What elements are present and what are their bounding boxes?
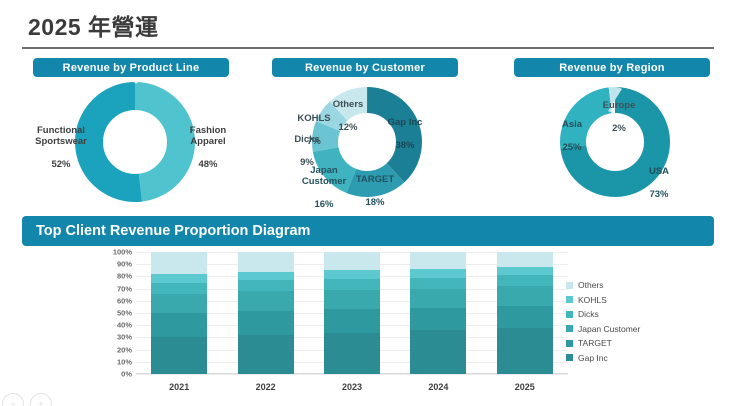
- bar-segment-japan-customer[interactable]: [410, 289, 466, 309]
- bar-segment-japan-customer[interactable]: [151, 294, 207, 314]
- bar-segment-japan-customer[interactable]: [497, 286, 553, 306]
- y-axis-tick-label: 40%: [96, 321, 132, 330]
- label-pct: 16%: [314, 199, 333, 210]
- donut-label-gap-inc: Gap Inc 38%: [380, 106, 430, 151]
- donut-chart-customer: Gap Inc 38% TARGET 18% Japan Customer 16…: [262, 80, 472, 205]
- bar-segment-others[interactable]: [238, 252, 294, 272]
- label-name: Fashion Apparel: [190, 125, 226, 147]
- bar-column[interactable]: [497, 252, 553, 374]
- label-pct: 25%: [562, 142, 581, 153]
- donut-label-others: Others 12%: [324, 88, 372, 133]
- legend-swatch-icon: [566, 340, 573, 347]
- bar-segment-dicks[interactable]: [410, 278, 466, 289]
- label-name: Europe: [603, 100, 636, 111]
- y-axis-tick-label: 0%: [96, 370, 132, 379]
- donut-chart-region: USA 73% Asia 25% Europe 2%: [500, 80, 730, 205]
- label-pct: 12%: [338, 122, 357, 133]
- bar-segment-dicks[interactable]: [324, 279, 380, 290]
- banner-top-client-revenue-proportion-diagram: Top Client Revenue Proportion Diagram: [22, 216, 714, 246]
- bar-segment-kohls[interactable]: [324, 270, 380, 279]
- zoom-out-icon[interactable]: −: [2, 393, 24, 406]
- banner-revenue-by-product-line: Revenue by Product Line: [33, 58, 229, 77]
- label-pct: 38%: [395, 140, 414, 151]
- legend-item-japan-customer[interactable]: Japan Customer: [566, 322, 640, 337]
- chart-legend: OthersKOHLSDicksJapan CustomerTARGETGap …: [566, 278, 640, 365]
- legend-label: Japan Customer: [578, 324, 640, 334]
- grid-line: [136, 374, 568, 375]
- x-axis-tick-label: 2024: [410, 382, 466, 392]
- x-axis-tick-label: 2025: [497, 382, 553, 392]
- label-name: Others: [333, 99, 364, 110]
- legend-item-kohls[interactable]: KOHLS: [566, 293, 640, 308]
- banner-revenue-by-customer: Revenue by Customer: [272, 58, 458, 77]
- y-axis-tick-label: 20%: [96, 345, 132, 354]
- x-axis-tick-label: 2021: [151, 382, 207, 392]
- legend-swatch-icon: [566, 325, 573, 332]
- bar-segment-dicks[interactable]: [151, 283, 207, 294]
- bar-segment-gap-inc[interactable]: [497, 328, 553, 374]
- label-pct: 48%: [198, 159, 217, 170]
- y-axis-labels: 100%90%80%70%60%50%40%30%20%10%0%: [92, 252, 132, 374]
- legend-label: Dicks: [578, 309, 599, 319]
- legend-label: Others: [578, 280, 604, 290]
- bar-segment-others[interactable]: [410, 252, 466, 269]
- y-axis-tick-label: 80%: [96, 272, 132, 281]
- title-divider: [22, 47, 714, 49]
- bar-segment-dicks[interactable]: [238, 280, 294, 291]
- bar-segment-target[interactable]: [151, 313, 207, 337]
- y-axis-tick-label: 100%: [96, 248, 132, 257]
- page-title: 2025 年營運: [28, 8, 159, 42]
- label-name: Gap Inc: [388, 117, 423, 128]
- legend-swatch-icon: [566, 311, 573, 318]
- donut-label-usa: USA 73%: [636, 155, 682, 200]
- bar-segment-gap-inc[interactable]: [410, 330, 466, 374]
- donut-label-functional-sportswear: Functional Sportswear 52%: [22, 114, 100, 170]
- bar-segment-dicks[interactable]: [497, 275, 553, 286]
- bar-column[interactable]: [238, 252, 294, 374]
- label-pct: 2%: [612, 123, 626, 134]
- donut-chart-product-line: Functional Sportswear 52% Fashion Appare…: [20, 80, 250, 205]
- bar-segment-kohls[interactable]: [238, 272, 294, 281]
- legend-swatch-icon: [566, 296, 573, 303]
- legend-swatch-icon: [566, 354, 573, 361]
- legend-label: TARGET: [578, 338, 612, 348]
- y-axis-tick-label: 30%: [96, 333, 132, 342]
- donut-label-asia: Asia 25%: [548, 108, 596, 153]
- donut-label-europe: Europe 2%: [594, 89, 644, 134]
- bar-segment-japan-customer[interactable]: [238, 291, 294, 311]
- label-name: Asia: [562, 119, 582, 130]
- x-axis-tick-label: 2023: [324, 382, 380, 392]
- y-axis-tick-label: 70%: [96, 284, 132, 293]
- y-axis-tick-label: 10%: [96, 357, 132, 366]
- bar-segment-kohls[interactable]: [497, 267, 553, 276]
- label-pct: 7%: [307, 136, 321, 147]
- label-name: USA: [649, 166, 669, 177]
- bar-segment-gap-inc[interactable]: [324, 333, 380, 374]
- bar-segment-target[interactable]: [238, 311, 294, 335]
- label-pct: 18%: [365, 197, 384, 208]
- bar-segment-target[interactable]: [410, 308, 466, 330]
- bar-column[interactable]: [324, 252, 380, 374]
- y-axis-tick-label: 60%: [96, 296, 132, 305]
- plot-area: 20212022202320242025: [136, 252, 568, 374]
- label-name: Functional Sportswear: [35, 125, 87, 147]
- legend-item-gap-inc[interactable]: Gap Inc: [566, 351, 640, 366]
- donut-label-fashion-apparel: Fashion Apparel 48%: [172, 114, 244, 170]
- label-pct: 73%: [649, 189, 668, 200]
- bar-segment-gap-inc[interactable]: [151, 337, 207, 374]
- slide-canvas: 2025 年營運 Revenue by Product Line Revenue…: [0, 0, 740, 406]
- zoom-in-icon[interactable]: +: [30, 393, 52, 406]
- bar-segment-target[interactable]: [324, 309, 380, 332]
- bar-column[interactable]: [151, 252, 207, 374]
- x-axis-tick-label: 2022: [238, 382, 294, 392]
- legend-item-target[interactable]: TARGET: [566, 336, 640, 351]
- bar-segment-kohls[interactable]: [151, 274, 207, 283]
- label-pct: 9%: [300, 157, 314, 168]
- slide-controls[interactable]: − +: [2, 393, 52, 406]
- label-name: TARGET: [356, 174, 394, 185]
- legend-item-dicks[interactable]: Dicks: [566, 307, 640, 322]
- legend-item-others[interactable]: Others: [566, 278, 640, 293]
- legend-swatch-icon: [566, 282, 573, 289]
- legend-label: Gap Inc: [578, 353, 608, 363]
- bar-segment-target[interactable]: [497, 306, 553, 328]
- y-axis-tick-label: 50%: [96, 309, 132, 318]
- donut-label-target: TARGET 18%: [350, 163, 400, 208]
- bar-segment-others[interactable]: [151, 252, 207, 274]
- label-name: Japan Customer: [302, 165, 346, 187]
- legend-label: KOHLS: [578, 295, 607, 305]
- bar-segment-japan-customer[interactable]: [324, 290, 380, 310]
- bar-segment-others[interactable]: [497, 252, 553, 267]
- banner-revenue-by-region: Revenue by Region: [514, 58, 710, 77]
- banner-label: Top Client Revenue Proportion Diagram: [36, 223, 310, 239]
- bar-segment-others[interactable]: [324, 252, 380, 270]
- bar-column[interactable]: [410, 252, 466, 374]
- label-pct: 52%: [51, 159, 70, 170]
- bar-segment-gap-inc[interactable]: [238, 335, 294, 374]
- bar-segment-kohls[interactable]: [410, 269, 466, 278]
- y-axis-tick-label: 90%: [96, 260, 132, 269]
